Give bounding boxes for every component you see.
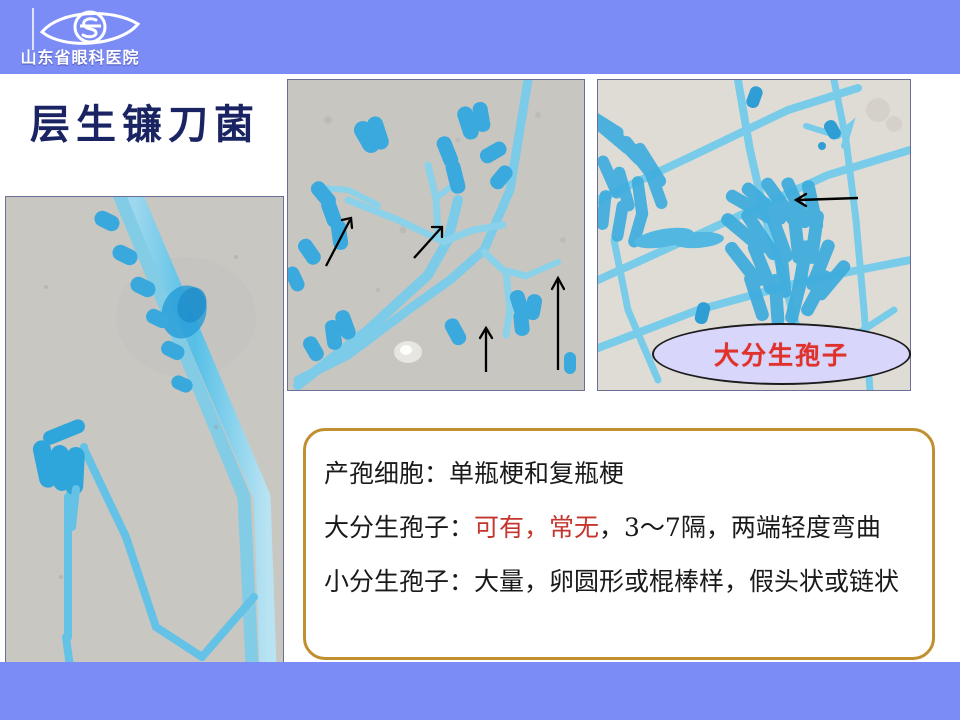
slide-canvas: 山东省眼科医院 层生镰刀菌	[0, 0, 960, 720]
line2-highlight: 可有，常无	[474, 513, 599, 542]
center-micrograph-image	[288, 80, 584, 390]
description-line-1: 产孢细胞：单瓶梗和复瓶梗	[324, 447, 918, 501]
line2-suffix: ，3～7隔，两端轻度弯曲	[599, 513, 881, 542]
description-line-3: 小分生孢子：大量，卵圆形或棍棒样，假头状或链状	[324, 555, 918, 609]
macroconidia-callout: 大分生孢子	[652, 323, 911, 385]
logo-divider	[32, 8, 34, 50]
callout-label: 大分生孢子	[714, 336, 849, 372]
footer-band	[0, 662, 960, 720]
description-box: 产孢细胞：单瓶梗和复瓶梗 大分生孢子：可有，常无，3～7隔，两端轻度弯曲 小分生…	[303, 428, 935, 660]
page-title: 层生镰刀菌	[30, 97, 280, 153]
left-micrograph	[5, 196, 284, 666]
line2-prefix: 大分生孢子：	[324, 513, 474, 542]
left-micrograph-image	[6, 197, 283, 665]
center-micrograph	[287, 79, 585, 391]
header-band: 山东省眼科医院	[0, 0, 960, 74]
hospital-name-label: 山东省眼科医院	[12, 46, 148, 70]
description-line-2: 大分生孢子：可有，常无，3～7隔，两端轻度弯曲	[324, 501, 918, 555]
hospital-logo: 山东省眼科医院	[10, 2, 150, 72]
